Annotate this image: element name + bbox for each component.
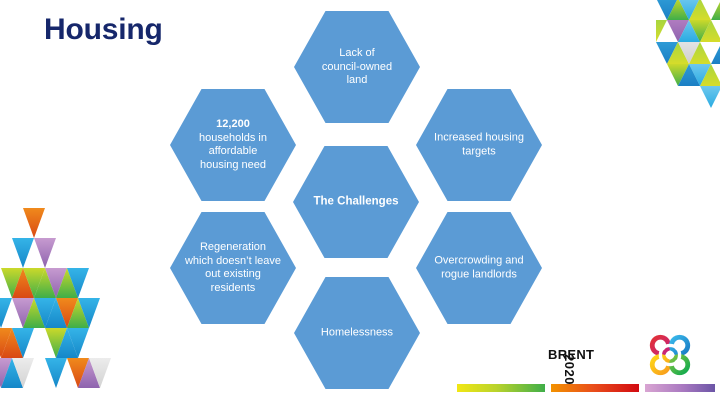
london-borough-of-culture-flower-icon (645, 331, 695, 379)
pink-purple-bar (645, 384, 715, 392)
hex-node-lack-of-land[interactable]: Lack of council-owned land (294, 11, 420, 123)
hex-node-label: Overcrowding and rogue landlords (422, 255, 536, 282)
challenges-honeycomb-diagram: Lack of council-owned land 12,200househo… (0, 0, 720, 405)
hex-node-label: 12,200households in affordable housing n… (176, 118, 290, 172)
hex-node-lead-figure: 12,200 (176, 118, 290, 132)
hex-node-label: Regeneration which doesn’t leave out exi… (176, 241, 290, 295)
hex-node-regeneration[interactable]: Regeneration which doesn’t leave out exi… (170, 212, 296, 324)
hex-node-label: Increased housing targets (422, 132, 536, 159)
hex-node-homelessness[interactable]: Homelessness (294, 277, 420, 389)
hex-node-label: Homelessness (300, 326, 414, 340)
hex-node-increased-targets[interactable]: Increased housing targets (416, 89, 542, 201)
hex-node-affordable-need[interactable]: 12,200households in affordable housing n… (170, 89, 296, 201)
hex-node-label: Lack of council-owned land (300, 47, 414, 88)
brent-2020-logo: BRENT 2020 (548, 334, 604, 376)
yellow-green-bar (457, 384, 545, 392)
orange-red-bar (551, 384, 639, 392)
hex-center-label: The Challenges (299, 195, 413, 209)
footer-gradient-bars (457, 384, 715, 392)
slide-canvas: Housing Lack of council-owned land 12,20… (0, 0, 720, 405)
hex-node-sublabel: households in affordable housing need (199, 132, 267, 171)
hex-node-overcrowding[interactable]: Overcrowding and rogue landlords (416, 212, 542, 324)
brent-year-2020: 2020 (562, 354, 577, 385)
hex-node-center-the-challenges[interactable]: The Challenges (293, 146, 419, 258)
